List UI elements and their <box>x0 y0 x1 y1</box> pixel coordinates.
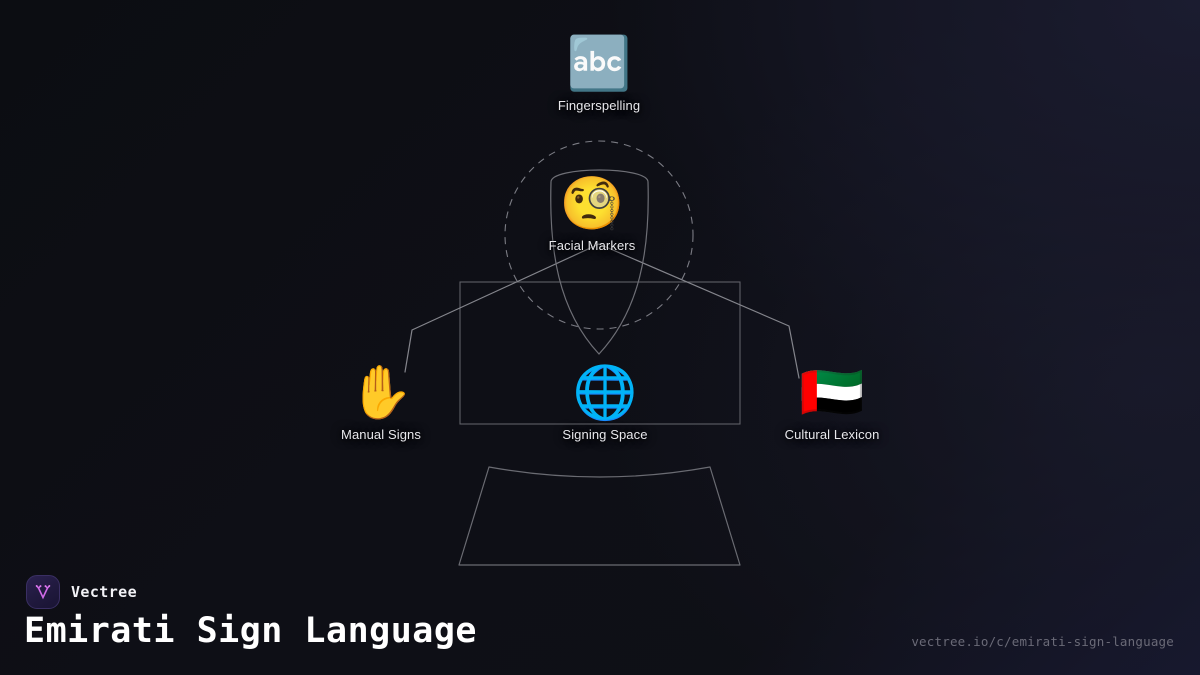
brand-row[interactable]: Vectree <box>26 575 137 609</box>
footer: Vectree Emirati Sign Language vectree.io… <box>0 560 1200 675</box>
brand-name: Vectree <box>71 583 137 601</box>
node-facial-markers[interactable]: 🧐 Facial Markers <box>482 178 702 253</box>
node-cultural-lexicon[interactable]: 🇦🇪 Cultural Lexicon <box>722 367 942 442</box>
node-signing-space[interactable]: 🌐 Signing Space <box>495 367 715 442</box>
node-label-signing-space: Signing Space <box>562 427 647 442</box>
node-label-fingerspelling: Fingerspelling <box>558 98 640 113</box>
node-label-facial-markers: Facial Markers <box>549 238 636 253</box>
uae-flag-icon: 🇦🇪 <box>800 367 865 419</box>
page-title: Emirati Sign Language <box>24 611 477 651</box>
site-url: vectree.io/c/emirati-sign-language <box>911 634 1174 649</box>
vectree-sprout-logo-icon <box>26 575 60 609</box>
node-label-manual-signs: Manual Signs <box>341 427 421 442</box>
node-manual-signs[interactable]: ✋ Manual Signs <box>271 367 491 442</box>
edge-facial-markers-to-manual-signs <box>405 244 599 372</box>
node-label-cultural-lexicon: Cultural Lexicon <box>785 427 880 442</box>
screenshot-canvas: 🔤 Fingerspelling 🧐 Facial Markers ✋ Manu… <box>0 0 1200 675</box>
node-fingerspelling[interactable]: 🔤 Fingerspelling <box>489 38 709 113</box>
torso-trapezoid <box>459 467 740 565</box>
abc-input-latin-letters-icon: 🔤 <box>567 38 632 90</box>
raised-hand-icon: ✋ <box>349 367 414 419</box>
edge-facial-markers-to-cultural-lexicon <box>599 244 799 378</box>
face-with-monocle-icon: 🧐 <box>560 178 625 230</box>
globe-with-meridians-icon: 🌐 <box>573 367 638 419</box>
